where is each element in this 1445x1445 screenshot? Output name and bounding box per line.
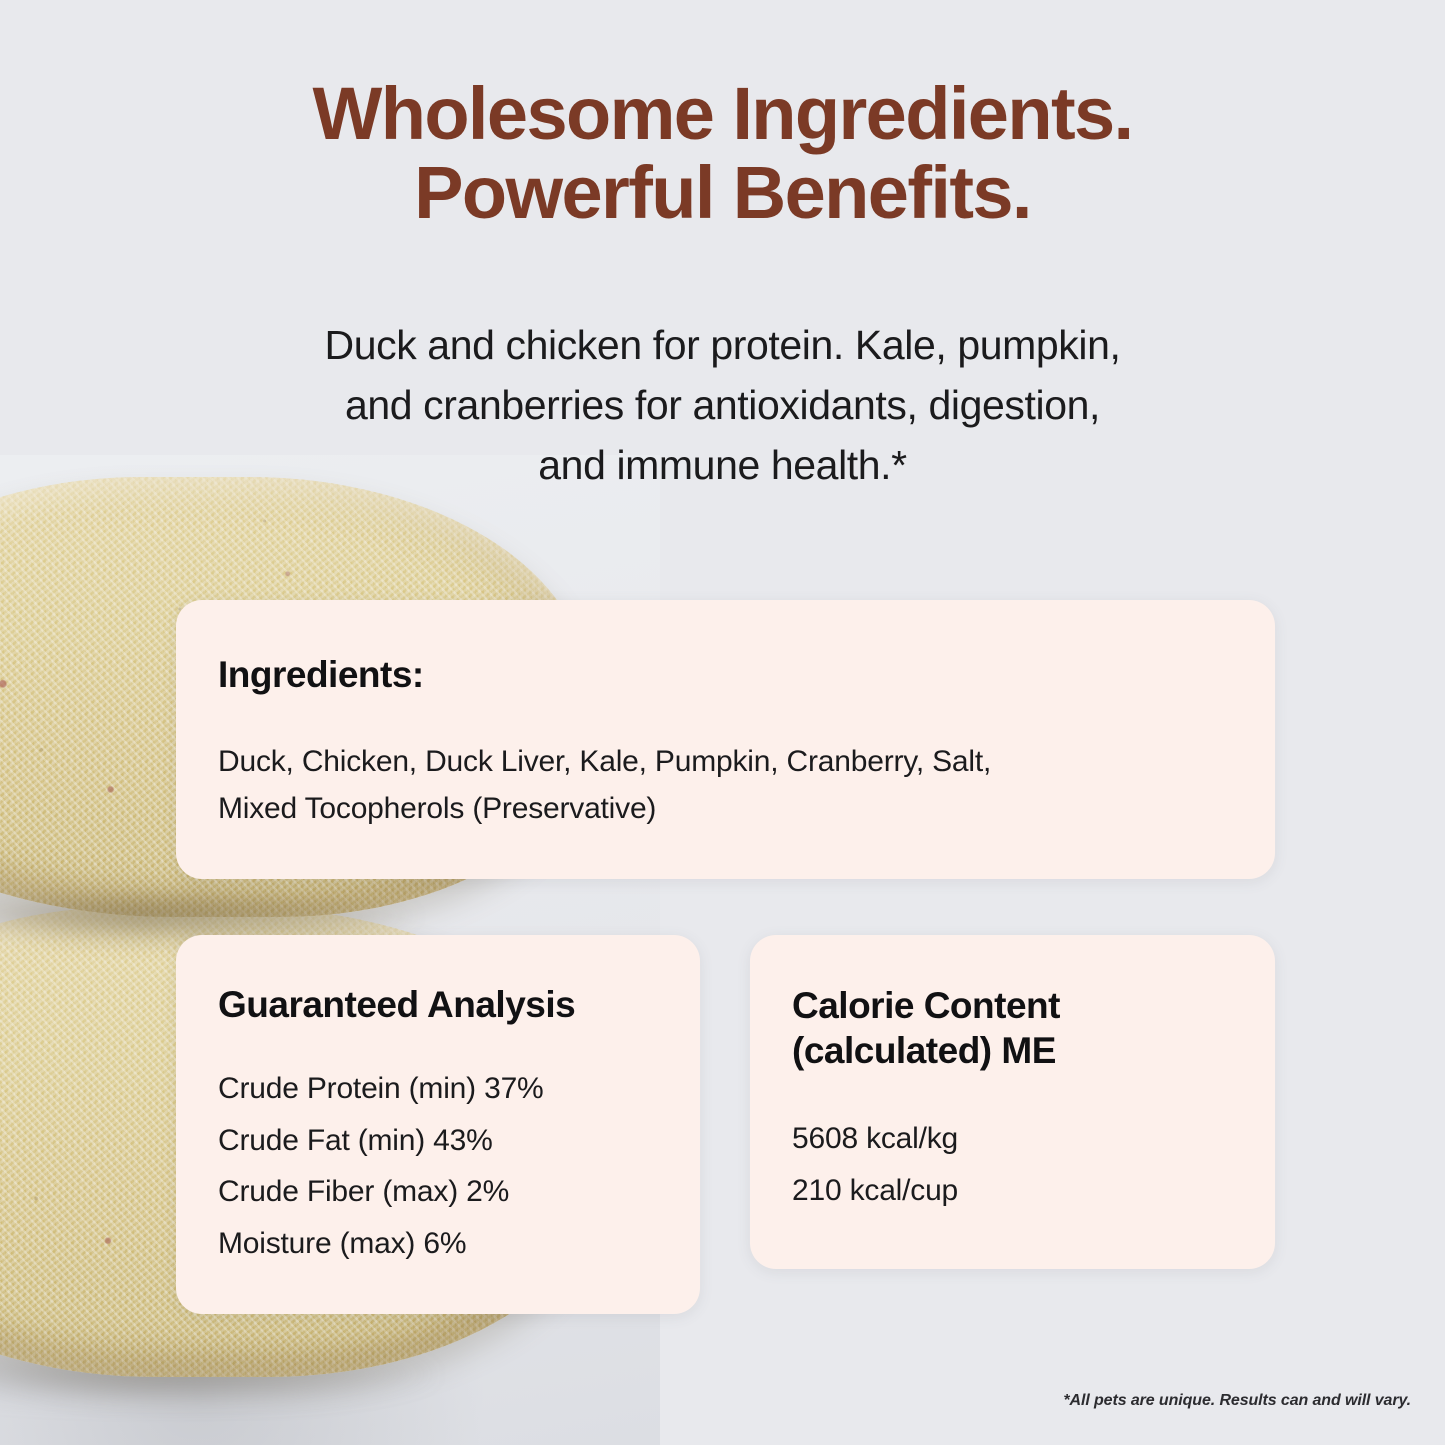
guaranteed-analysis-card: Guaranteed Analysis Crude Protein (min) … [176, 935, 700, 1314]
page-subtitle: Duck and chicken for protein. Kale, pump… [0, 316, 1445, 496]
subtitle-line-3: and immune health.* [0, 436, 1445, 496]
calorie-row: 210 kcal/cup [792, 1165, 1251, 1217]
guaranteed-analysis-card-title: Guaranteed Analysis [218, 985, 575, 1026]
calorie-content-card: Calorie Content (calculated) ME 5608 kca… [750, 935, 1275, 1269]
subtitle-line-1: Duck and chicken for protein. Kale, pump… [0, 316, 1445, 376]
ingredients-card-title: Ingredients: [218, 655, 424, 696]
ingredients-line: Duck, Chicken, Duck Liver, Kale, Pumpkin… [218, 738, 1241, 785]
analysis-row: Crude Protein (min) 37% [218, 1063, 676, 1115]
page-headline: Wholesome Ingredients. Powerful Benefits… [0, 74, 1445, 232]
calorie-title-line-1: Calorie Content [792, 983, 1245, 1028]
analysis-row: Crude Fat (min) 43% [218, 1115, 676, 1167]
headline-line-1: Wholesome Ingredients. [0, 74, 1445, 153]
analysis-row: Moisture (max) 6% [218, 1218, 676, 1270]
calorie-content-card-title: Calorie Content (calculated) ME [792, 983, 1245, 1073]
calorie-content-card-body: 5608 kcal/kg 210 kcal/cup [792, 1113, 1251, 1216]
subtitle-line-2: and cranberries for antioxidants, digest… [0, 376, 1445, 436]
ingredients-card-body: Duck, Chicken, Duck Liver, Kale, Pumpkin… [218, 738, 1241, 833]
guaranteed-analysis-card-body: Crude Protein (min) 37% Crude Fat (min) … [218, 1063, 676, 1269]
disclaimer-footnote: *All pets are unique. Results can and wi… [1063, 1392, 1411, 1410]
ingredients-card: Ingredients: Duck, Chicken, Duck Liver, … [176, 600, 1275, 879]
calorie-row: 5608 kcal/kg [792, 1113, 1251, 1165]
headline-line-2: Powerful Benefits. [0, 153, 1445, 232]
calorie-title-line-2: (calculated) ME [792, 1028, 1245, 1073]
ingredients-line: Mixed Tocopherols (Preservative) [218, 785, 1241, 832]
analysis-row: Crude Fiber (max) 2% [218, 1166, 676, 1218]
